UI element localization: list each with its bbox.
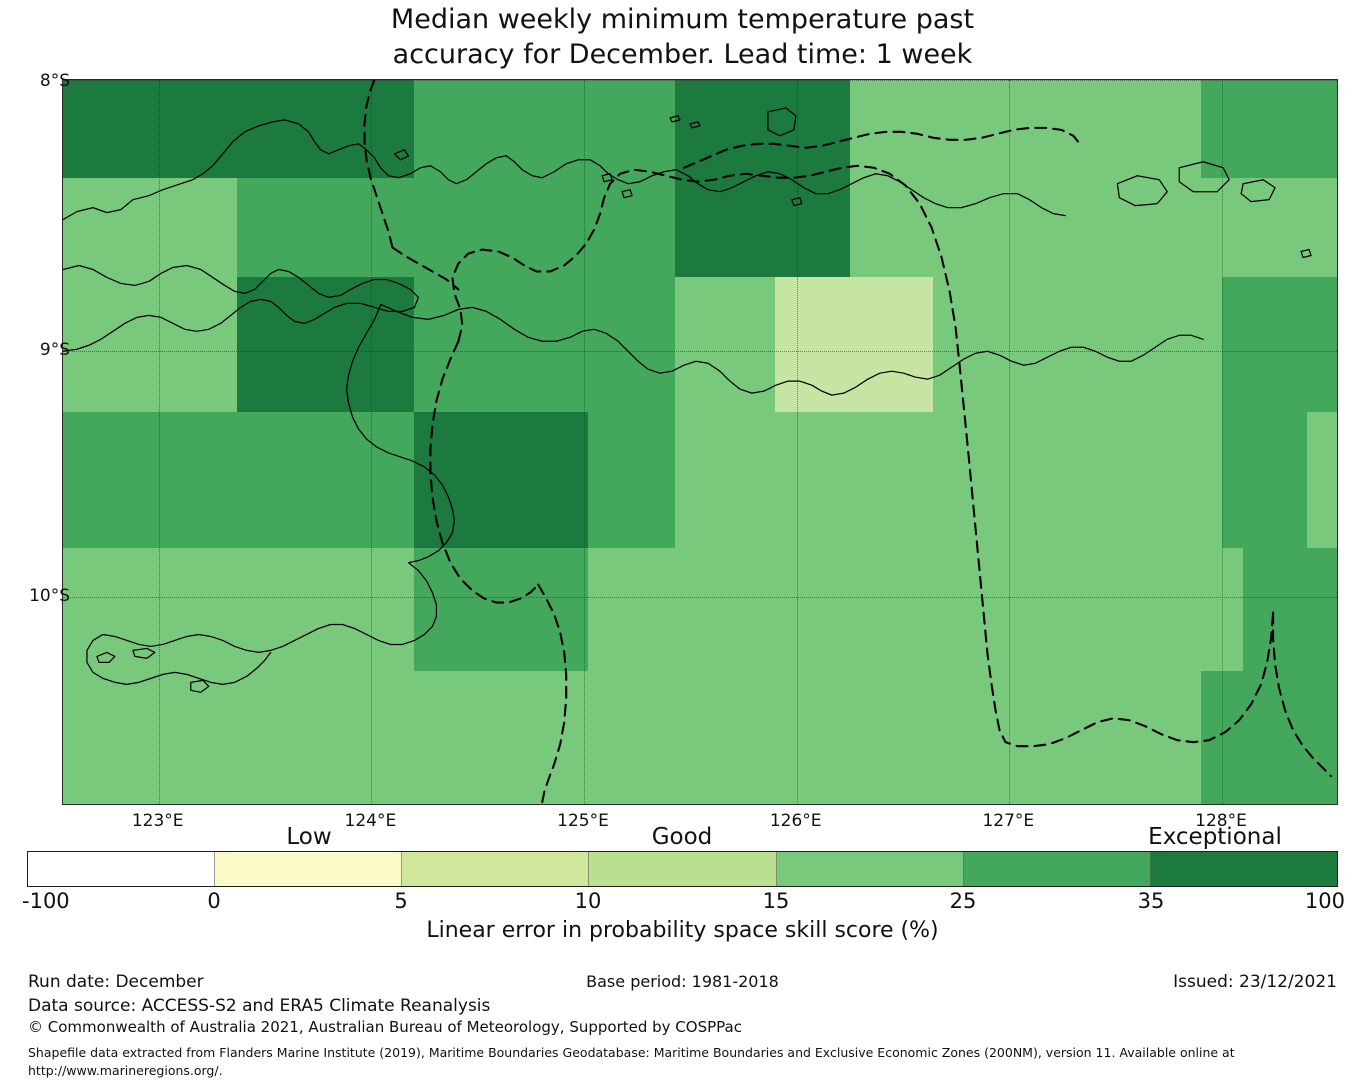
coastline-small-islet-2 bbox=[133, 648, 155, 658]
colorbar-segment-0[interactable] bbox=[28, 852, 215, 886]
eez-boundary-se-corner bbox=[1273, 613, 1331, 777]
eez-boundary-north-dashline bbox=[684, 128, 1081, 168]
cbtick--100: -100 bbox=[22, 889, 70, 913]
footer-data-source: Data source: ACCESS-S2 and ERA5 Climate … bbox=[28, 996, 490, 1016]
colorbar-segment-6[interactable] bbox=[1151, 852, 1337, 886]
coastline-tiny-dot-5 bbox=[792, 198, 802, 206]
footer-shapefile-line-1: Shapefile data extracted from Flanders M… bbox=[28, 1044, 1235, 1061]
map-vector-overlay bbox=[63, 80, 1337, 804]
xtick-126E: 126°E bbox=[770, 811, 822, 831]
title-line-1: Median weekly minimum temperature past bbox=[0, 2, 1365, 37]
cbtick-15: 15 bbox=[763, 889, 790, 913]
coastline-tiny-dot-4 bbox=[622, 190, 632, 198]
colorbar-segment-4[interactable] bbox=[777, 852, 964, 886]
footer-row-1: Run date: December Base period: 1981-201… bbox=[0, 972, 1365, 996]
coastline-tiny-dot-1 bbox=[670, 116, 680, 122]
coastline-tiny-dot-3 bbox=[602, 174, 612, 182]
footer-row-3: © Commonwealth of Australia 2021, Austra… bbox=[0, 1018, 1365, 1044]
footer-shapefile-line-2: http://www.marineregions.org/. bbox=[28, 1062, 223, 1079]
footer: Run date: December Base period: 1981-201… bbox=[0, 972, 1365, 1080]
coastline-islet-wetar-b bbox=[1179, 162, 1229, 192]
cbtick-5: 5 bbox=[394, 889, 407, 913]
colorbar-segment-2[interactable] bbox=[402, 852, 589, 886]
cbtick-25: 25 bbox=[950, 889, 977, 913]
colorbar-segment-5[interactable] bbox=[964, 852, 1151, 886]
colorbar-axis-label: Linear error in probability space skill … bbox=[0, 918, 1365, 943]
footer-copyright: © Commonwealth of Australia 2021, Austra… bbox=[28, 1018, 742, 1036]
cbtick-35: 35 bbox=[1138, 889, 1165, 913]
cbtick-0: 0 bbox=[207, 889, 220, 913]
eez-boundary-sw-leg bbox=[538, 585, 566, 802]
footer-base-period: Base period: 1981-2018 bbox=[0, 972, 1365, 991]
coastline-sw-tip bbox=[87, 634, 271, 684]
colorbar-category-exceptional: Exceptional bbox=[1148, 824, 1282, 850]
colorbar-segment-1[interactable] bbox=[215, 852, 402, 886]
ytick-10S: 10°S bbox=[29, 586, 70, 606]
colorbar[interactable] bbox=[27, 851, 1338, 887]
title-line-2: accuracy for December. Lead time: 1 week bbox=[0, 37, 1365, 72]
coastline-islet-kisar bbox=[768, 108, 796, 136]
coastline-small-islet-1 bbox=[97, 652, 115, 662]
coastline-islet-wetar-a bbox=[1117, 176, 1167, 206]
eez-boundary bbox=[452, 166, 1273, 746]
footer-row-2: Data source: ACCESS-S2 and ERA5 Climate … bbox=[0, 996, 1365, 1018]
coastline-islet-wetar-c bbox=[1241, 180, 1275, 202]
coastline-sw-peninsula bbox=[103, 563, 436, 653]
colorbar-category-low: Low bbox=[286, 824, 331, 850]
coastline-tiny-dot-6 bbox=[1301, 250, 1311, 258]
cbtick-10: 10 bbox=[575, 889, 602, 913]
eez-boundary-nw-spur bbox=[392, 248, 458, 290]
map-plot-area[interactable] bbox=[62, 79, 1338, 805]
coastline-small-islet-3 bbox=[191, 680, 209, 692]
footer-row-5: http://www.marineregions.org/. bbox=[0, 1062, 1365, 1080]
colorbar-segment-3[interactable] bbox=[589, 852, 776, 886]
xtick-127E: 127°E bbox=[982, 811, 1034, 831]
footer-row-4: Shapefile data extracted from Flanders M… bbox=[0, 1044, 1365, 1062]
ytick-8S: 8°S bbox=[40, 71, 70, 91]
ytick-9S: 9°S bbox=[40, 340, 70, 360]
xtick-123E: 123°E bbox=[132, 811, 184, 831]
colorbar-category-good: Good bbox=[652, 824, 713, 850]
coastline-timor-north bbox=[381, 304, 1204, 395]
cbtick-100: 100 bbox=[1305, 889, 1345, 913]
footer-issued: Issued: 23/12/2021 bbox=[1173, 972, 1337, 992]
colorbar-gradient[interactable] bbox=[27, 851, 1338, 887]
eez-boundary-west bbox=[430, 341, 538, 602]
xtick-125E: 125°E bbox=[557, 811, 609, 831]
page-title: Median weekly minimum temperature past a… bbox=[0, 2, 1365, 72]
coastline-west-islands bbox=[63, 120, 1065, 220]
coastline-tiny-dot-2 bbox=[690, 122, 700, 128]
coastline-west-inlet bbox=[63, 265, 418, 351]
xtick-124E: 124°E bbox=[345, 811, 397, 831]
coastline-islet-tiny-a bbox=[394, 150, 408, 160]
